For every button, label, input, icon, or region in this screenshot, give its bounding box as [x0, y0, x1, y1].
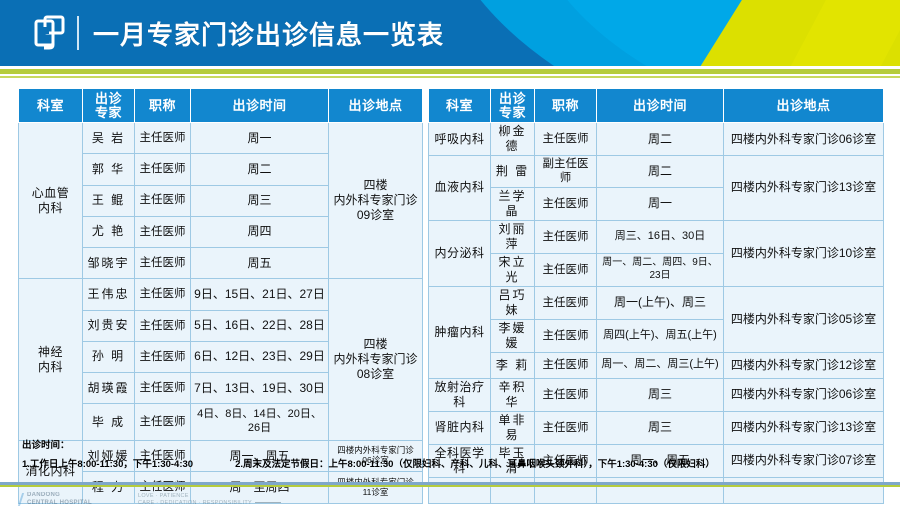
loc-line1: 四楼 [363, 337, 387, 351]
footer-tagline-line2-wrap: CARE · DEDICATION · RESPONSIBILITY [138, 500, 281, 507]
cell-time: 4日、8日、14日、20日、26日 [191, 404, 329, 441]
cell-location: 四楼内外科专家门诊12诊室 [724, 352, 884, 378]
cell-department: 内分泌科 [429, 220, 491, 286]
table-row: 心血管 内科 吴 岩 主任医师 周一 四楼 内外科专家门诊 09诊室 [19, 123, 423, 154]
cell-job-title: 主任医师 [135, 185, 191, 216]
cell-expert-name: 吴 岩 [83, 123, 135, 154]
cell-department: 血液内科 [429, 156, 491, 221]
cell-time: 6日、12日、23日、29日 [191, 341, 329, 372]
column-header-expert: 出诊 专家 [491, 89, 535, 123]
cell-location: 四楼内外科专家门诊05诊室 [724, 286, 884, 352]
cell-expert-name: 邹晓宇 [83, 248, 135, 279]
cell-expert-name: 柳金德 [491, 123, 535, 156]
cell-expert-name: 尤 艳 [83, 216, 135, 247]
footer-logo-line2: CENTRAL HOSPITAL [27, 500, 92, 508]
cell-job-title: 副主任医师 [535, 156, 597, 188]
cell-job-title: 主任医师 [535, 187, 597, 220]
cell-expert-name: 宋立光 [491, 253, 535, 286]
column-header-time: 出诊时间 [191, 89, 329, 123]
header-divider [77, 16, 79, 50]
header-green-bar-thin [0, 76, 900, 78]
cell-job-title: 主任医师 [135, 341, 191, 372]
notes-body: 1.工作日上午8:00-11:30，下午1:30-4:30 2.周末及法定节假日… [22, 456, 882, 470]
cell-job-title: 主任医师 [535, 319, 597, 352]
cell-expert-name: 孙 明 [83, 341, 135, 372]
column-header-department: 科室 [429, 89, 491, 123]
footer-logo-text: DANDONG CENTRAL HOSPITAL [27, 492, 92, 507]
dept-line1: 神经 [38, 345, 63, 359]
table-row: 呼吸内科 柳金德 主任医师 周二 四楼内外科专家门诊06诊室 [429, 123, 884, 156]
note-item-2: 2.周末及法定节假日：上午8:00-11:30（仅限妇科、产科、儿科、耳鼻咽喉头… [235, 456, 715, 470]
cell-time: 周一 [191, 123, 329, 154]
cell-expert-name: 胡瑛霞 [83, 373, 135, 404]
column-header-title: 职称 [135, 89, 191, 123]
cell-time: 周一 [597, 187, 724, 220]
hospital-logo-icon [33, 15, 67, 51]
cell-job-title: 主任医师 [535, 286, 597, 319]
cell-expert-name: 辛积华 [491, 378, 535, 411]
cell-location: 四楼 内外科专家门诊 09诊室 [329, 123, 423, 279]
cell-job-title: 主任医师 [535, 352, 597, 378]
column-header-time: 出诊时间 [597, 89, 724, 123]
page-root: 一月专家门诊出诊信息一览表 科室 出诊 专家 职称 出诊时间 出诊地点 [0, 0, 900, 514]
cell-job-title: 主任医师 [135, 154, 191, 185]
cell-location: 四楼内外科专家门诊06诊室 [724, 123, 884, 156]
cell-job-title: 主任医师 [535, 253, 597, 286]
footer-tagline-line2: CARE · DEDICATION · RESPONSIBILITY [138, 500, 252, 506]
cell-job-title: 主任医师 [135, 373, 191, 404]
column-header-expert-line2: 专家 [95, 105, 122, 120]
table-header-row: 科室 出诊 专家 职称 出诊时间 出诊地点 [19, 89, 423, 123]
cell-department: 神经 内科 [19, 279, 83, 441]
loc-line2: 内外科专家门诊 [333, 352, 417, 366]
dept-line2: 内科 [38, 360, 63, 374]
cell-job-title: 主任医师 [135, 123, 191, 154]
cell-time: 周一(上午)、周三 [597, 286, 724, 319]
cell-department: 呼吸内科 [429, 123, 491, 156]
cell-expert-name: 吕巧妹 [491, 286, 535, 319]
cell-location: 四楼内外科专家门诊 11诊室 [329, 472, 423, 503]
footer-rule-green [0, 485, 900, 487]
cell-time: 周一、周二、周四、9日、23日 [597, 253, 724, 286]
cell-location: 四楼内外科专家门诊13诊室 [724, 156, 884, 221]
cell-time: 周二 [597, 156, 724, 188]
footer-tagline: LOVE · PATIENCE CARE · DEDICATION · RESP… [138, 493, 281, 507]
cell-job-title: 主任医师 [135, 404, 191, 441]
cell-time: 7日、13日、19日、30日 [191, 373, 329, 404]
column-header-expert-line2: 专家 [499, 105, 526, 120]
notes-title: 出诊时间： [22, 437, 882, 451]
cell-time: 周三、16日、30日 [597, 220, 724, 253]
cell-expert-name: 刘贵安 [83, 310, 135, 341]
cell-job-title: 主任医师 [135, 279, 191, 310]
column-header-expert: 出诊 专家 [83, 89, 135, 123]
table-row: 内分泌科 刘丽萍 主任医师 周三、16日、30日 四楼内外科专家门诊10诊室 [429, 220, 884, 253]
cell-time: 周二 [191, 154, 329, 185]
column-header-location: 出诊地点 [329, 89, 423, 123]
cell-time: 周一、周二、周三(上午) [597, 352, 724, 378]
footer-hospital-logo: DANDONG CENTRAL HOSPITAL [20, 492, 92, 507]
loc-line2: 内外科专家门诊 [333, 193, 417, 207]
table-row: 李 莉 主任医师 周一、周二、周三(上午) 四楼内外科专家门诊12诊室 [429, 352, 884, 378]
cell-location: 四楼内外科专家门诊10诊室 [724, 220, 884, 286]
cell-time: 周五 [191, 248, 329, 279]
page-header: 一月专家门诊出诊信息一览表 [0, 0, 900, 66]
loc-line3: 09诊室 [357, 208, 394, 222]
header-content: 一月专家门诊出诊信息一览表 [0, 0, 444, 66]
cell-job-title: 主任医师 [135, 248, 191, 279]
cell-expert-name: 毕 成 [83, 404, 135, 441]
cell-job-title: 主任医师 [535, 123, 597, 156]
dept-line2: 内科 [38, 201, 63, 215]
footer-logo-line1: DANDONG [27, 492, 92, 500]
column-header-department: 科室 [19, 89, 83, 123]
cell-job-title: 主任医师 [535, 378, 597, 411]
cell-expert-name: 李媛媛 [491, 319, 535, 352]
cell-job-title: 主任医师 [135, 310, 191, 341]
cell-expert-name: 王 鲲 [83, 185, 135, 216]
cell-department: 肿瘤内科 [429, 286, 491, 378]
cell-expert-name: 兰学晶 [491, 187, 535, 220]
cell-job-title: 主任医师 [135, 216, 191, 247]
table-row: 肿瘤内科 吕巧妹 主任医师 周一(上午)、周三 四楼内外科专家门诊05诊室 [429, 286, 884, 319]
header-green-bar [0, 69, 900, 74]
cell-job-title: 主任医师 [535, 220, 597, 253]
footer-notes: 出诊时间： 1.工作日上午8:00-11:30，下午1:30-4:30 2.周末… [22, 437, 882, 470]
cell-expert-name: 刘丽萍 [491, 220, 535, 253]
loc-line3: 08诊室 [357, 367, 394, 381]
cell-expert-name: 荆 雷 [491, 156, 535, 188]
column-header-title: 职称 [535, 89, 597, 123]
cell-time: 周二 [597, 123, 724, 156]
column-header-location: 出诊地点 [724, 89, 884, 123]
note-item-1: 1.工作日上午8:00-11:30，下午1:30-4:30 [22, 456, 193, 470]
cell-expert-name: 王伟忠 [83, 279, 135, 310]
cell-time: 周三 [597, 378, 724, 411]
cell-department: 放射治疗科 [429, 378, 491, 411]
loc-line2: 11诊室 [363, 487, 389, 497]
table-row: 血液内科 荆 雷 副主任医师 周二 四楼内外科专家门诊13诊室 [429, 156, 884, 188]
cell-location: 四楼内外科专家门诊06诊室 [724, 378, 884, 411]
cell-location: 四楼 内外科专家门诊 08诊室 [329, 279, 423, 441]
cell-time: 5日、16日、22日、28日 [191, 310, 329, 341]
cell-time: 周四(上午)、周五(上午) [597, 319, 724, 352]
loc-line1: 四楼 [363, 178, 387, 192]
cell-department: 心血管 内科 [19, 123, 83, 279]
table-row: 放射治疗科 辛积华 主任医师 周三 四楼内外科专家门诊06诊室 [429, 378, 884, 411]
footer-tagline-line1: LOVE · PATIENCE [138, 493, 281, 500]
footer-tagline-rule [255, 502, 281, 503]
page-title: 一月专家门诊出诊信息一览表 [93, 15, 444, 52]
cell-time: 周三 [191, 185, 329, 216]
cell-expert-name: 郭 华 [83, 154, 135, 185]
cell-time: 9日、15日、21日、27日 [191, 279, 329, 310]
dept-line1: 心血管 [32, 186, 70, 200]
cell-time: 周四 [191, 216, 329, 247]
table-header-row: 科室 出诊 专家 职称 出诊时间 出诊地点 [429, 89, 884, 123]
table-row: 神经 内科 王伟忠 主任医师 9日、15日、21日、27日 四楼 内外科专家门诊… [19, 279, 423, 310]
cell-expert-name: 李 莉 [491, 352, 535, 378]
